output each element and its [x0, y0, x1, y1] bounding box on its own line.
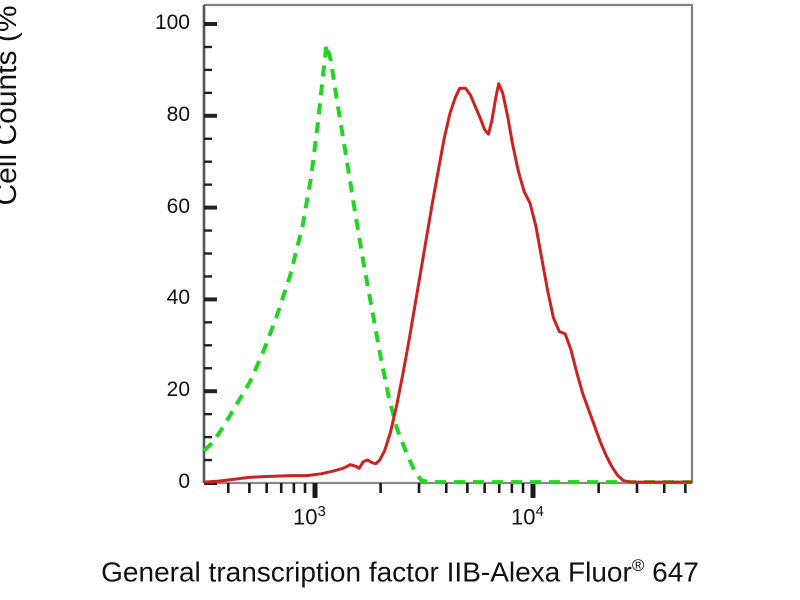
y-tick-label: 40 — [138, 286, 190, 310]
axis-ticks — [204, 24, 685, 498]
registered-trademark-icon: ® — [632, 556, 645, 575]
y-axis-label: Cell Counts (% Max) — [0, 0, 24, 238]
x-tick-label: 104 — [511, 503, 544, 530]
y-tick-label: 60 — [138, 195, 190, 219]
caption-text: General transcription factor IIB-Alexa F… — [101, 556, 632, 587]
x-tick-label-base: 10 — [293, 504, 317, 529]
flow-cytometry-figure: Cell Counts (% Max) 100806040200 103104 … — [0, 0, 800, 600]
caption-suffix: 647 — [644, 556, 699, 587]
figure-caption: General transcription factor IIB-Alexa F… — [0, 556, 800, 588]
y-tick-label: 80 — [138, 103, 190, 127]
y-tick-label: 20 — [138, 378, 190, 402]
y-tick-label: 100 — [138, 11, 190, 35]
x-tick-label-exponent: 4 — [535, 503, 543, 520]
x-tick-label: 103 — [293, 503, 326, 530]
x-tick-label-exponent: 3 — [317, 503, 325, 520]
data-series — [204, 45, 692, 482]
plot-frame — [204, 5, 692, 483]
series-stained-sample — [204, 84, 692, 482]
plot-border — [204, 5, 692, 483]
x-tick-label-base: 10 — [511, 504, 535, 529]
series-isotype-control — [204, 45, 692, 482]
y-tick-label: 0 — [138, 470, 190, 494]
histogram-plot — [0, 0, 800, 600]
